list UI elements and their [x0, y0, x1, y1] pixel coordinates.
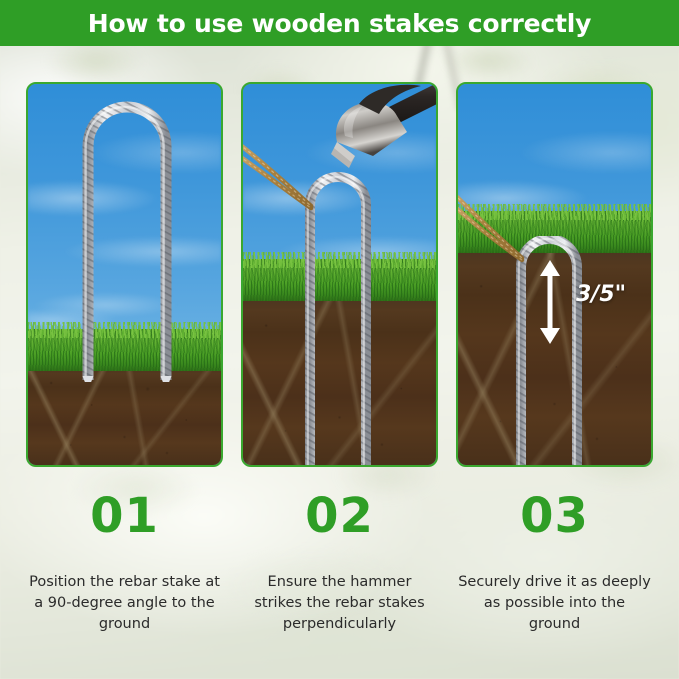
page-title: How to use wooden stakes correctly [88, 9, 592, 38]
step-caption-1: Position the rebar stake at a 90-degree … [26, 572, 223, 662]
step-panel-1 [26, 82, 223, 467]
step-number-3: 03 [456, 489, 653, 547]
measurement-arrow-icon [537, 260, 563, 344]
step-image-panels: 3/5" [0, 82, 679, 467]
step-panel-3: 3/5" [456, 82, 653, 467]
header-banner: How to use wooden stakes correctly [0, 0, 679, 46]
step-number-1: 01 [26, 489, 223, 547]
step-panel-2 [241, 82, 438, 467]
hammer-icon [315, 82, 438, 190]
step-caption-3: Securely drive it as deeply as possible … [456, 572, 653, 662]
measurement-label: 3/5" [576, 282, 626, 307]
rope-icon [458, 192, 544, 288]
step-numbers-row: 01 02 03 [0, 489, 679, 547]
step-caption-2: Ensure the hammer strikes the rebar stak… [241, 572, 438, 662]
step-captions-row: Position the rebar stake at a 90-degree … [0, 572, 679, 662]
infographic-poster: How to use wooden stakes correctly [0, 0, 679, 679]
rebar-stake-icon [74, 94, 180, 382]
step-number-2: 02 [241, 489, 438, 547]
